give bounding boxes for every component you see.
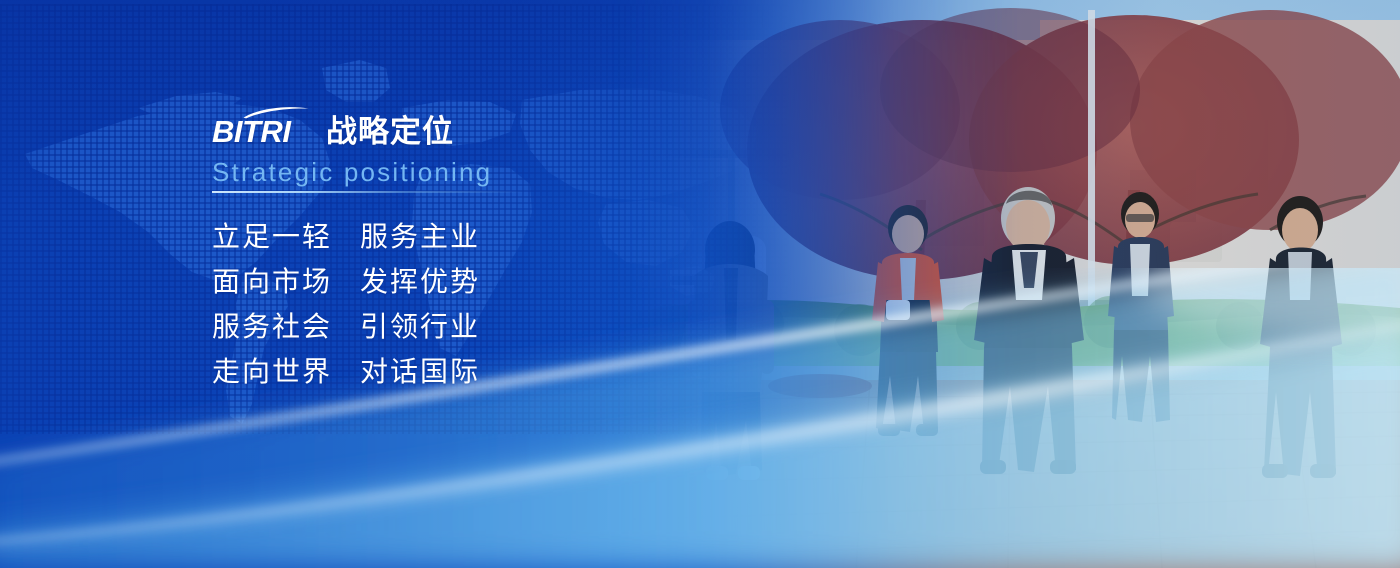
slogan-left: 立足一轻 bbox=[212, 214, 360, 259]
slogan-left: 面向市场 bbox=[212, 259, 360, 304]
bitri-wordmark: BITRI bbox=[212, 115, 290, 149]
slogan-row: 立足一轻 服务主业 bbox=[212, 214, 682, 259]
slogan-right: 服务主业 bbox=[360, 214, 480, 259]
page-subtitle-en: Strategic positioning bbox=[212, 157, 682, 187]
page-title-cn: 战略定位 bbox=[326, 115, 454, 150]
strategic-positioning-banner: BITRI 战略定位 Strategic positioning 立足一轻 服务… bbox=[0, 0, 1400, 568]
slogan-left: 服务社会 bbox=[212, 304, 360, 349]
title-divider bbox=[212, 191, 524, 193]
slogan-row: 服务社会 引领行业 bbox=[212, 304, 682, 349]
bitri-logo[interactable]: BITRI bbox=[212, 106, 312, 150]
slogan-right: 引领行业 bbox=[360, 304, 480, 349]
brand-title-row: BITRI 战略定位 bbox=[212, 104, 682, 150]
slogan-row: 走向世界 对话国际 bbox=[212, 349, 682, 394]
slogan-right: 对话国际 bbox=[360, 349, 480, 394]
slogan-left: 走向世界 bbox=[212, 349, 360, 394]
slogan-list: 立足一轻 服务主业 面向市场 发挥优势 服务社会 引领行业 走向世界 对话国际 bbox=[212, 214, 682, 394]
banner-text-block: BITRI 战略定位 Strategic positioning 立足一轻 服务… bbox=[212, 104, 682, 394]
people-walking-photo bbox=[610, 0, 1400, 568]
slogan-right: 发挥优势 bbox=[360, 259, 480, 304]
slogan-row: 面向市场 发挥优势 bbox=[212, 259, 682, 304]
